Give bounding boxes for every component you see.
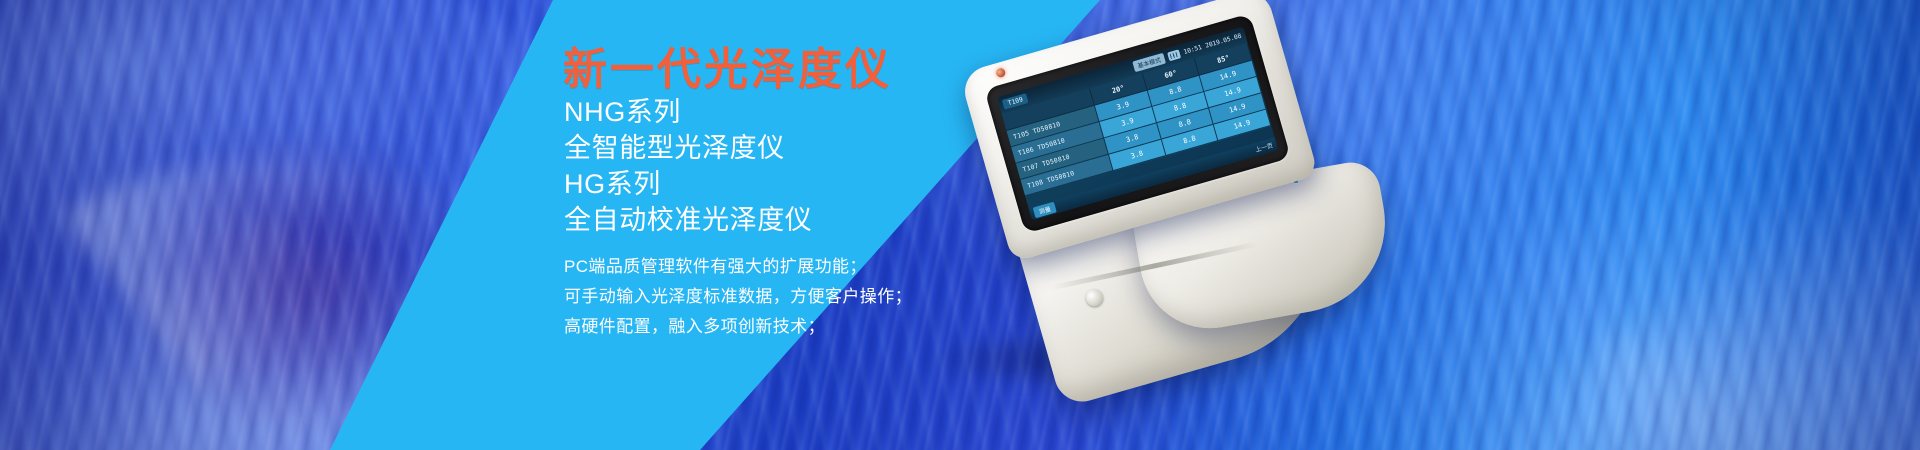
product-banner: 新一代光泽度仪 NHG系列 全智能型光泽度仪 HG系列 全自动校准光泽度仪 PC… [0,0,1920,450]
device-screen[interactable]: T109 基本模式 10:51 2019.05.08 T1 [997,27,1278,221]
status-led-icon [995,67,1006,78]
feature-line-1: PC端品质管理软件有强大的扩展功能； [564,252,912,282]
prev-page-button[interactable]: 上一页 [1254,140,1274,154]
gloss-meter-device: 3nh T109 基本模式 10:51 2019.05.08 [880,12,1350,432]
measure-icon [1167,49,1181,61]
subtitle-line-4: 全自动校准光泽度仪 [564,202,812,238]
subtitle-line-1: NHG系列 [564,94,812,130]
subtitle-list: NHG系列 全智能型光泽度仪 HG系列 全自动校准光泽度仪 [564,94,812,238]
feature-line-2: 可手动输入光泽度标准数据，方便客户操作； [564,282,912,312]
subtitle-line-3: HG系列 [564,166,812,202]
feature-line-3: 高硬件配置，融入多项创新技术； [564,312,912,342]
screen-clock: 10:51 [1183,44,1203,56]
page-title: 新一代光泽度仪 [563,48,892,92]
feature-list: PC端品质管理软件有强大的扩展功能； 可手动输入光泽度标准数据，方便客户操作； … [564,252,912,342]
subtitle-line-2: 全智能型光泽度仪 [564,130,812,166]
